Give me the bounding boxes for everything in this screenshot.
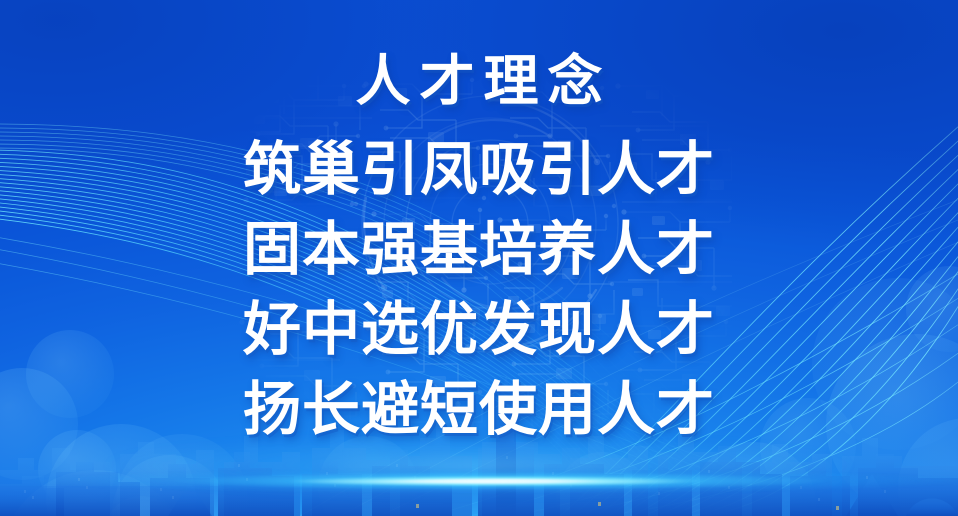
- slogan-line-3: 好中选优发现人才: [243, 290, 715, 370]
- slogan-line-4: 扬长避短使用人才: [243, 370, 715, 450]
- page-title: 人才理念: [346, 54, 611, 109]
- poster-content: 人才理念 筑巢引凤吸引人才 固本强基培养人才 好中选优发现人才 扬长避短使用人才: [0, 0, 958, 516]
- talent-philosophy-poster: 人才理念 筑巢引凤吸引人才 固本强基培养人才 好中选优发现人才 扬长避短使用人才: [0, 0, 958, 516]
- slogan-list: 筑巢引凤吸引人才 固本强基培养人才 好中选优发现人才 扬长避短使用人才: [243, 130, 715, 450]
- slogan-line-2: 固本强基培养人才: [243, 210, 715, 290]
- slogan-line-1: 筑巢引凤吸引人才: [243, 130, 715, 210]
